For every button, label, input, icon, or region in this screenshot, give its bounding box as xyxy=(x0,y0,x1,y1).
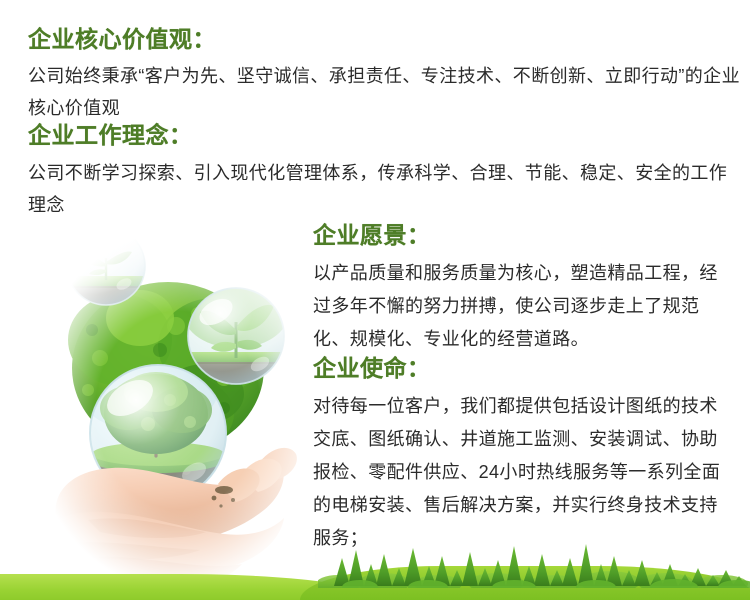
illustration-graphic xyxy=(28,218,328,588)
paragraph-core-values: 公司始终秉承“客户为先、坚守诚信、承担责任、专注技术、不断创新、立即行动”的企业… xyxy=(28,60,740,124)
paragraph-vision: 以产品质量和服务质量为核心，塑造精品工程，经过多年不懈的努力拼搏，使公司逐步走上… xyxy=(313,257,733,356)
paragraph-mission: 对待每一位客户，我们都提供包括设计图纸的技术交底、图纸确认、井道施工监测、安装调… xyxy=(313,390,733,555)
corporate-culture-page: 企业核心价值观： 公司始终秉承“客户为先、坚守诚信、承担责任、专注技术、不断创新… xyxy=(0,0,750,600)
grass-hill-right xyxy=(300,566,750,600)
heading-mission: 企业使命： xyxy=(313,355,431,381)
heading-core-values: 企业核心价值观： xyxy=(28,26,216,52)
small-glass-sphere-with-seedling xyxy=(67,227,145,306)
heading-vision: 企业愿景： xyxy=(313,222,431,248)
paragraph-work-philosophy: 公司不断学习探索、引入现代化管理体系，传承科学、合理、节能、稳定、安全的工作理念 xyxy=(28,157,740,221)
heading-work-philosophy: 企业工作理念： xyxy=(28,122,193,148)
hands-holding-globe-illustration xyxy=(28,218,328,588)
